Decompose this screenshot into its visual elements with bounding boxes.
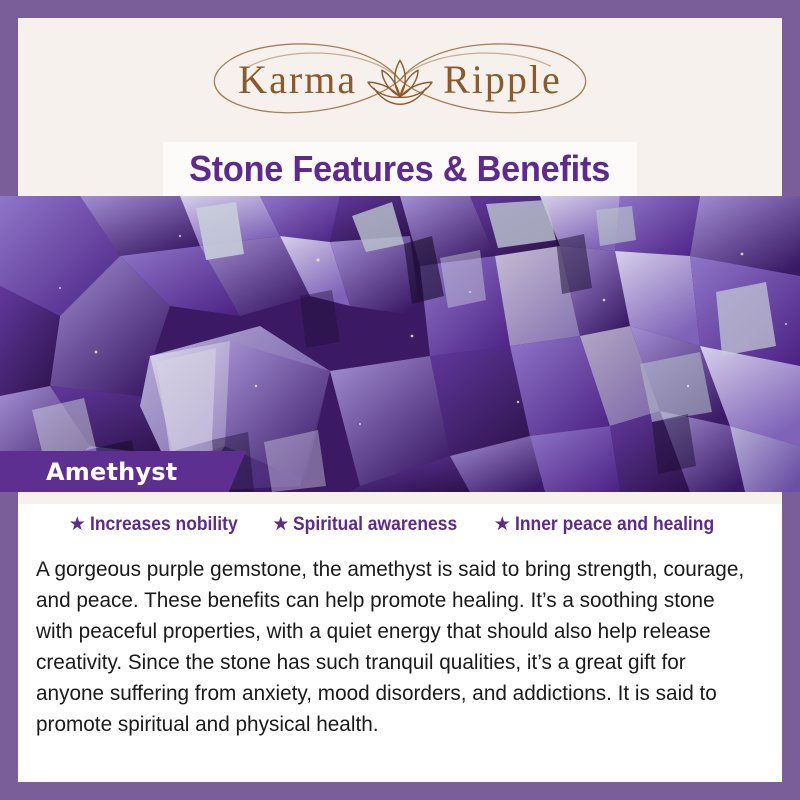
feature-label: Inner peace and healing [515,514,714,536]
card-top-strip [18,492,782,504]
page-title: Stone Features & Benefits [190,148,611,190]
feature-label: Spiritual awareness [293,514,457,536]
infographic-page: Karma Ripple Stone Features & Be [0,0,800,800]
star-icon: ★ [69,515,86,534]
brand-logo: Karma Ripple [18,32,782,128]
brand-name-right: Ripple [443,60,562,100]
lotus-icon [364,54,436,110]
content-card: ★ Increases nobility ★ Spiritual awarene… [18,492,782,782]
star-icon: ★ [494,515,511,534]
feature-item-2: ★ Spiritual awareness [272,514,472,536]
page-title-banner: Stone Features & Benefits [163,142,637,196]
stone-name-banner: Amethyst [0,451,246,492]
feature-item-3: ★ Inner peace and healing [494,514,732,536]
stone-name: Amethyst [46,458,177,486]
star-icon: ★ [272,515,289,534]
stone-description: A gorgeous purple gemstone, the amethyst… [36,554,746,740]
brand-name-left: Karma [238,60,357,100]
feature-item-1: ★ Increases nobility [69,514,251,536]
amethyst-hero-image [0,196,800,492]
feature-label: Increases nobility [90,514,238,536]
header-card: Karma Ripple Stone Features & Be [18,18,782,196]
feature-list: ★ Increases nobility ★ Spiritual awarene… [18,514,782,536]
